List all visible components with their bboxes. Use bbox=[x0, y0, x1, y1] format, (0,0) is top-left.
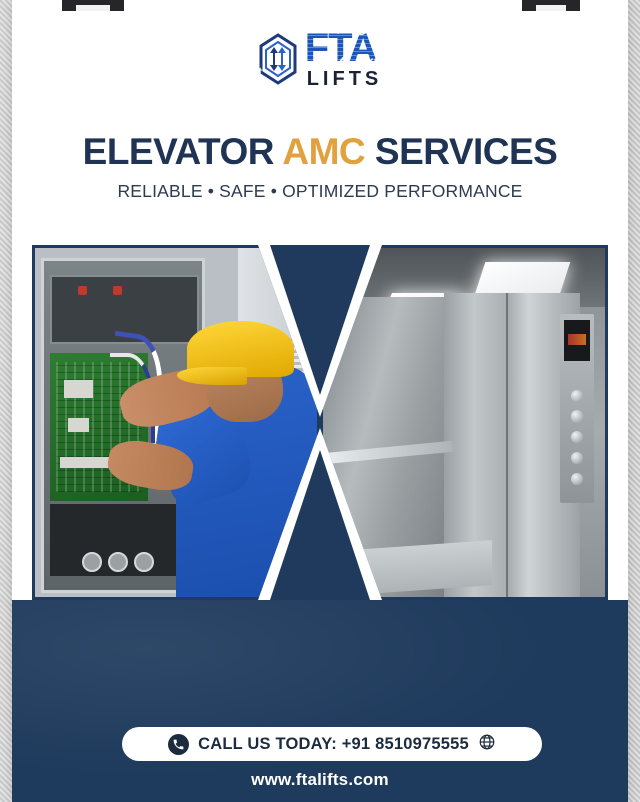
floor-button bbox=[571, 410, 583, 422]
feature-item: ✓ Proactive Issue Resolution bbox=[334, 84, 628, 104]
elevator-cabin-photo bbox=[320, 245, 608, 600]
terminal-bolt bbox=[82, 552, 102, 572]
feature-item: ✓ Comprehensive Check-ups bbox=[334, 20, 628, 40]
yellow-hard-hat bbox=[187, 321, 294, 377]
door-seam bbox=[506, 293, 508, 597]
feature-column-right: ✓ Comprehensive Check-ups ✓ Expert Techn… bbox=[320, 20, 628, 116]
floor-button bbox=[571, 390, 583, 402]
feature-list: ✓ 24/7 Emergency Support ✓ Comprehensive… bbox=[12, 20, 628, 116]
top-clipped-mark-right bbox=[522, 0, 580, 11]
marketing-poster: FTA LIFTS ELEVATOR AMC SERVICES RELIABLE… bbox=[12, 0, 628, 802]
floor-indicator-display bbox=[564, 320, 590, 361]
headline-part-1: ELEVATOR bbox=[83, 131, 283, 172]
pcb-chip bbox=[64, 380, 93, 398]
phone-icon bbox=[168, 734, 189, 755]
globe-icon bbox=[478, 733, 496, 756]
website-url[interactable]: www.ftalifts.com bbox=[12, 770, 628, 790]
feature-label: Expert Technicians bbox=[355, 54, 485, 72]
indicator-led bbox=[113, 286, 122, 295]
floor-button bbox=[571, 473, 583, 485]
check-icon: ✓ bbox=[334, 84, 347, 104]
headline: ELEVATOR AMC SERVICES bbox=[12, 131, 628, 173]
technician-photo bbox=[32, 245, 320, 600]
photo-band bbox=[32, 245, 608, 600]
feature-label: Proactive Issue Resolution bbox=[355, 86, 539, 104]
sub-headline: RELIABLE • SAFE • OPTIMIZED PERFORMANCE bbox=[12, 181, 628, 202]
cabin-control-panel bbox=[560, 314, 594, 502]
feature-column-left: ✓ 24/7 Emergency Support bbox=[12, 20, 320, 116]
cabinet-bottom-module bbox=[50, 504, 195, 576]
call-to-action-button[interactable]: CALL US TODAY: +91 8510975555 bbox=[122, 727, 542, 761]
feature-item: ✓ Expert Technicians bbox=[334, 52, 628, 72]
top-clipped-mark-left bbox=[62, 0, 124, 11]
headline-highlight-amc: AMC bbox=[282, 131, 365, 172]
check-icon: ✓ bbox=[334, 52, 347, 72]
headline-part-2: SERVICES bbox=[365, 131, 557, 172]
feature-item: ✓ 24/7 Emergency Support bbox=[70, 63, 263, 83]
terminal-bolt bbox=[134, 552, 154, 572]
floor-button bbox=[571, 431, 583, 443]
indicator-led bbox=[78, 286, 87, 295]
check-icon: ✓ bbox=[334, 20, 347, 40]
check-icon: ✓ bbox=[70, 63, 83, 83]
feature-label: 24/7 Emergency Support bbox=[91, 65, 262, 83]
terminal-bolt bbox=[108, 552, 128, 572]
pcb-chip bbox=[68, 418, 90, 431]
cta-label: CALL US TODAY: +91 8510975555 bbox=[198, 735, 469, 754]
feature-label: Comprehensive Check-ups bbox=[355, 22, 542, 40]
floor-button bbox=[571, 452, 583, 464]
